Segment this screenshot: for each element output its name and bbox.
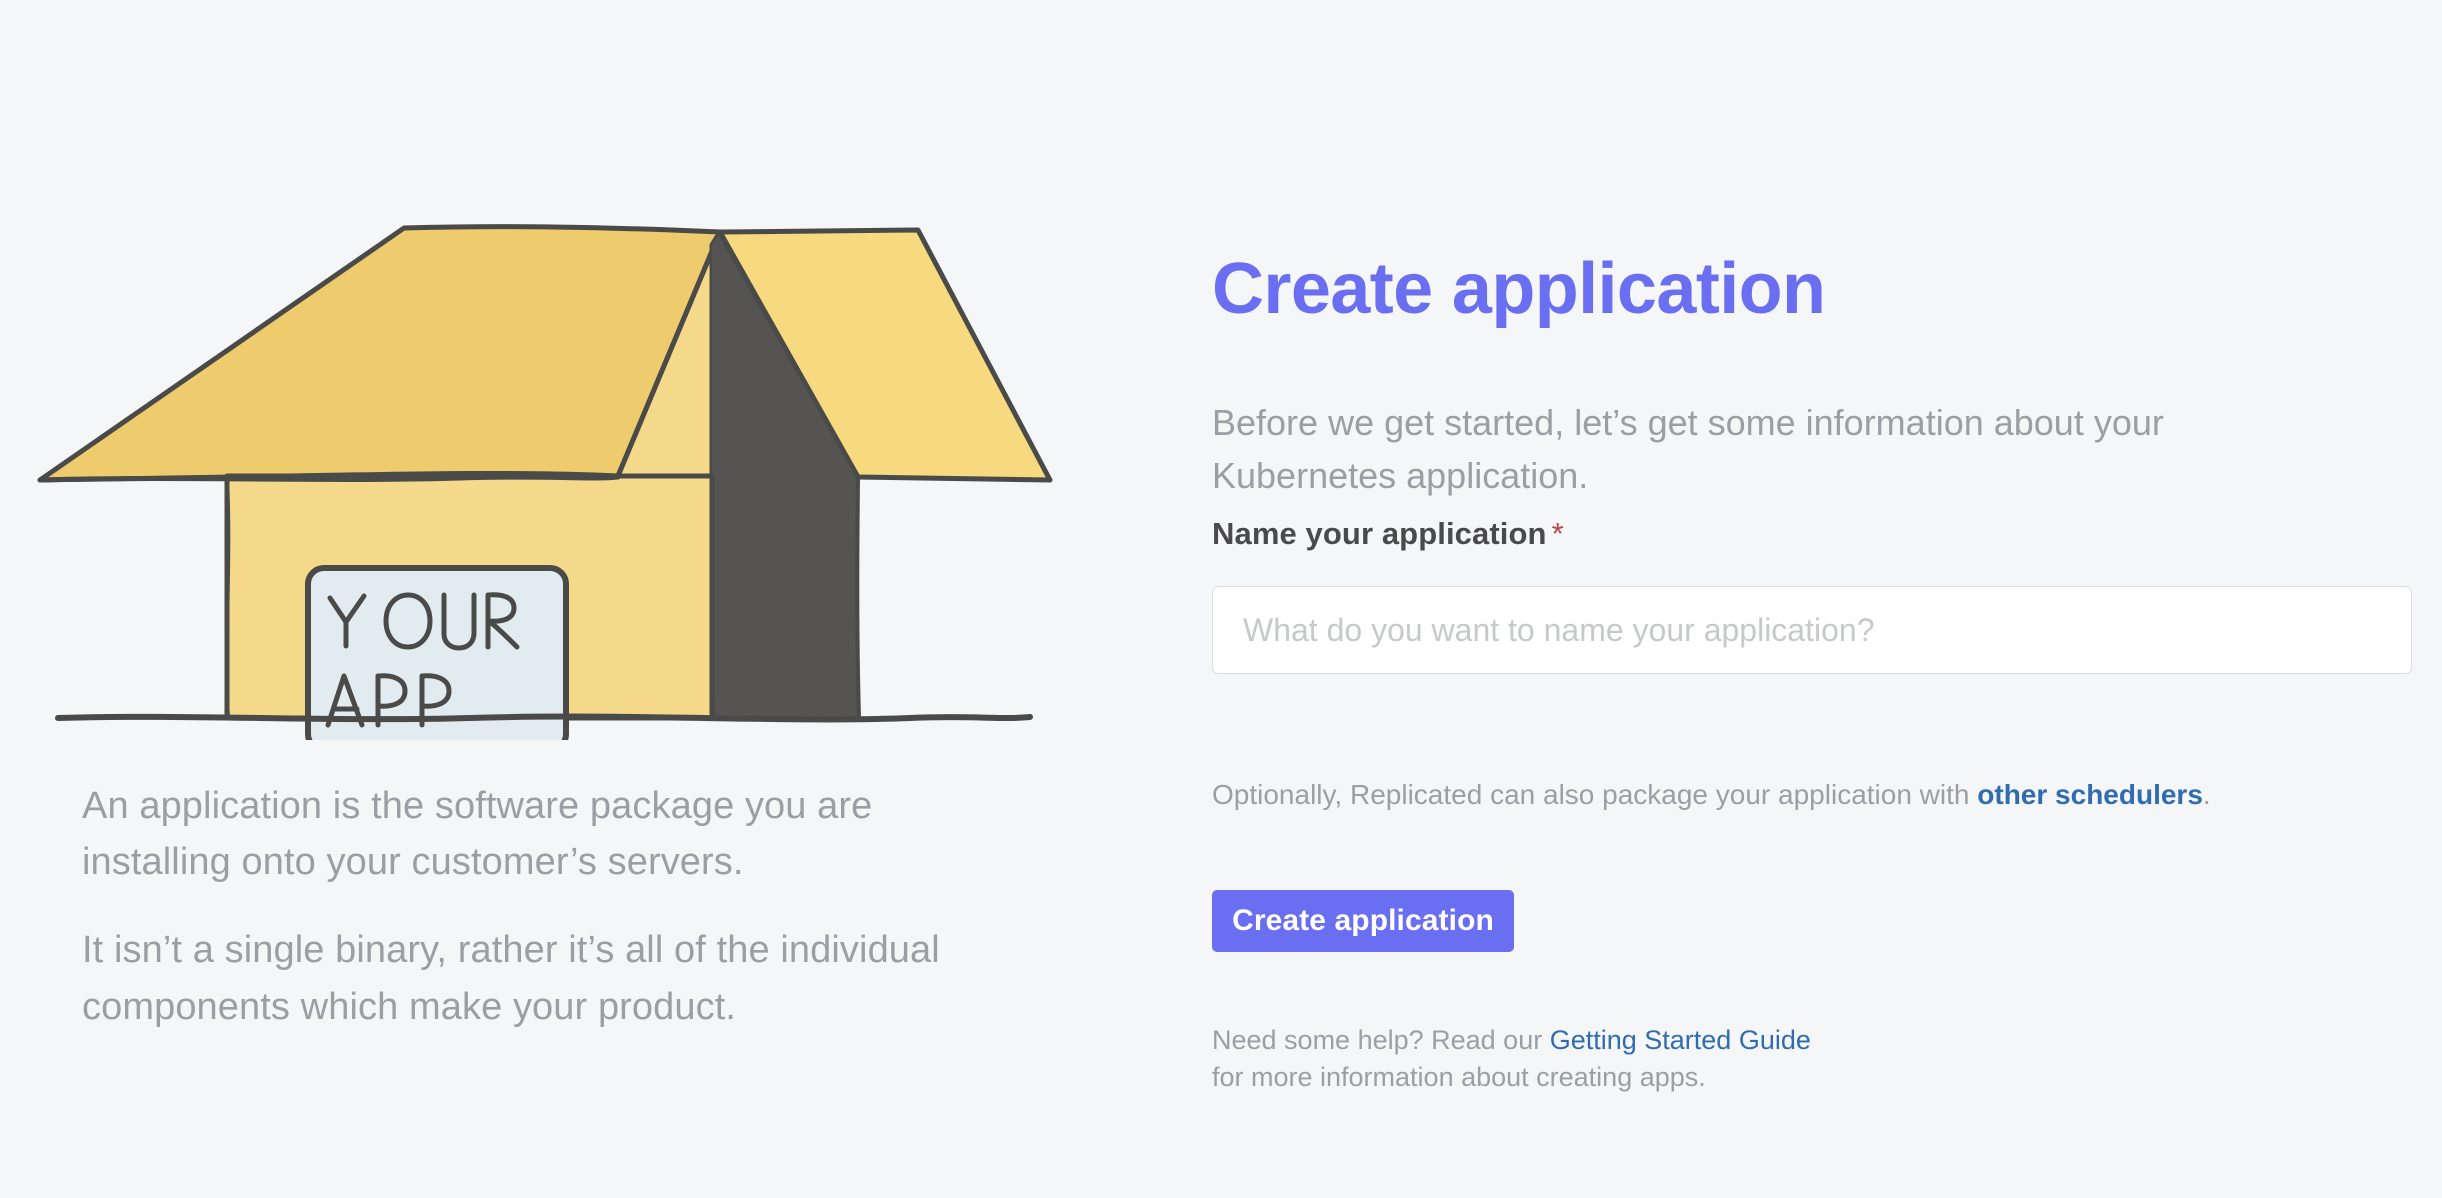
- create-application-page: An application is the software package y…: [0, 0, 2442, 1198]
- other-schedulers-prefix: Optionally, Replicated can also package …: [1212, 779, 1977, 810]
- other-schedulers-link[interactable]: other schedulers: [1977, 779, 2203, 810]
- intro-description: Before we get started, let’s get some in…: [1212, 396, 2352, 503]
- help-note: Need some help? Read our Getting Started…: [1212, 1022, 2112, 1097]
- name-field-label: Name your application*: [1212, 516, 1564, 552]
- left-paragraph-2: It isn’t a single binary, rather it’s al…: [82, 922, 1002, 1034]
- help-prefix: Need some help? Read our: [1212, 1025, 1550, 1055]
- page-title: Create application: [1212, 253, 1825, 325]
- name-field-label-text: Name your application: [1212, 516, 1547, 551]
- help-suffix: for more information about creating apps…: [1212, 1062, 1706, 1092]
- required-asterisk: *: [1552, 516, 1564, 551]
- application-name-input[interactable]: [1212, 586, 2412, 674]
- open-cardboard-box-illustration: [30, 180, 1070, 740]
- left-info-column: An application is the software package y…: [0, 0, 1100, 1198]
- create-application-form-column: Create application Before we get started…: [1212, 0, 2442, 1198]
- left-paragraph-1: An application is the software package y…: [82, 778, 1002, 890]
- left-description-block: An application is the software package y…: [82, 778, 1002, 1035]
- create-application-button[interactable]: Create application: [1212, 890, 1514, 952]
- other-schedulers-suffix: .: [2203, 779, 2211, 810]
- getting-started-guide-link[interactable]: Getting Started Guide: [1550, 1025, 1811, 1055]
- other-schedulers-note: Optionally, Replicated can also package …: [1212, 775, 2211, 814]
